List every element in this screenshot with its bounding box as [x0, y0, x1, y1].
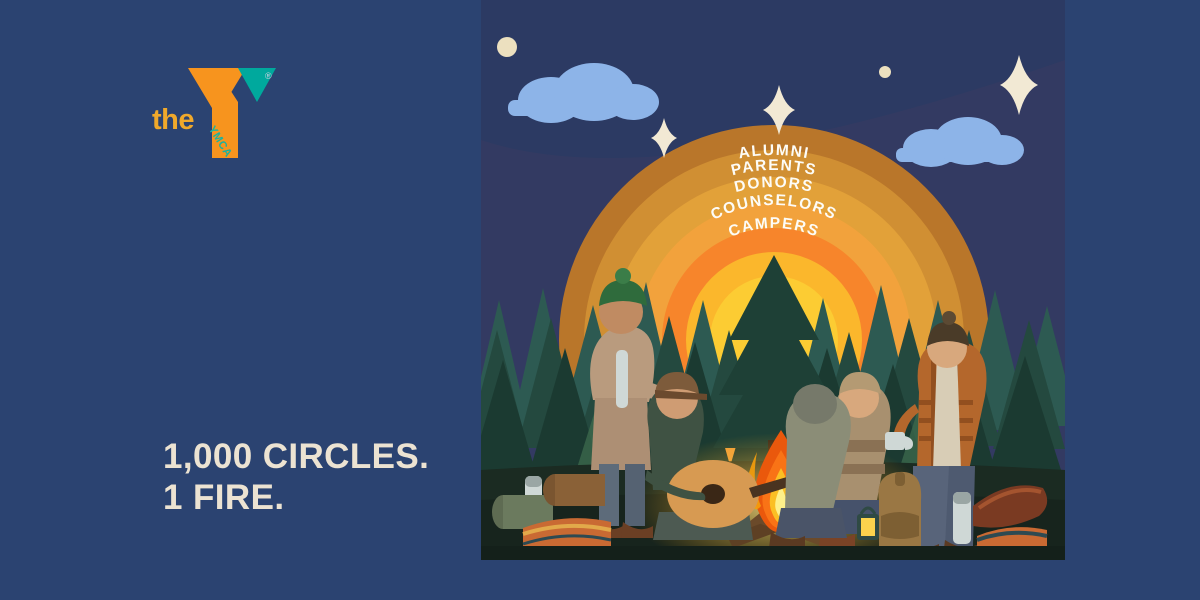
- headline-line-1: 1,000 CIRCLES.: [163, 437, 463, 478]
- ymca-logo: the YMCA ®: [152, 62, 272, 167]
- headline-line-2: 1 FIRE.: [163, 478, 463, 519]
- left-brand-panel: the YMCA ® 1,000 CIRCLES. 1 FIRE.: [0, 0, 481, 600]
- thermos-right: [953, 492, 971, 544]
- campfire-illustration: ALUMNI PARENTS DONORS COUNSELORS CAMPERS: [481, 0, 1065, 560]
- poster-canvas: the YMCA ® 1,000 CIRCLES. 1 FIRE.: [0, 0, 1200, 600]
- moon-icon: [497, 37, 517, 57]
- backpack: [878, 472, 921, 546]
- log-left: [543, 474, 605, 506]
- registered-mark-icon: ®: [265, 71, 272, 81]
- small-moon-icon: [879, 66, 891, 78]
- headline: 1,000 CIRCLES. 1 FIRE.: [163, 437, 463, 518]
